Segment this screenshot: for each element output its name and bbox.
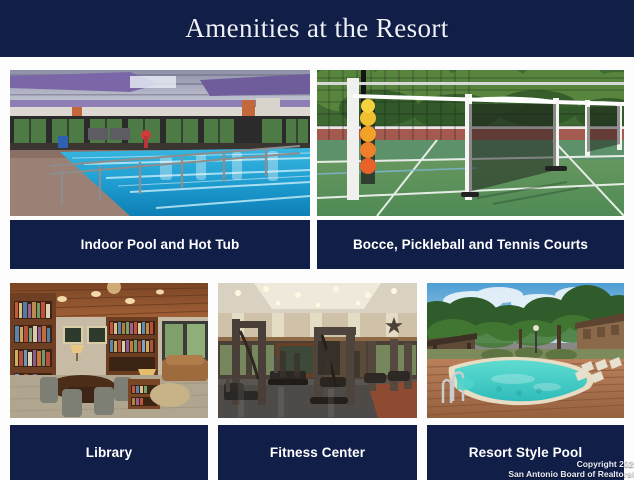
tile-caption-indoor-pool[interactable]: Indoor Pool and Hot Tub — [10, 220, 310, 269]
pickleball-tennis-court-photo — [317, 70, 624, 216]
caption-label: Bocce, Pickleball and Tennis Courts — [353, 237, 588, 252]
tile-image-courts[interactable] — [317, 70, 624, 216]
page-title: Amenities at the Resort — [185, 15, 448, 42]
tile-image-resort-pool[interactable] — [427, 283, 624, 418]
amenities-gallery-page: Amenities at the Resort — [0, 0, 634, 480]
tile-image-fitness[interactable] — [218, 283, 417, 418]
fitness-center-gym-photo — [218, 283, 417, 418]
tile-image-library[interactable] — [10, 283, 208, 418]
tile-caption-fitness[interactable]: Fitness Center — [218, 425, 417, 480]
caption-label: Indoor Pool and Hot Tub — [81, 237, 240, 252]
tile-caption-resort-pool[interactable]: Resort Style Pool — [427, 425, 624, 480]
tile-caption-library[interactable]: Library — [10, 425, 208, 480]
tile-caption-courts[interactable]: Bocce, Pickleball and Tennis Courts — [317, 220, 624, 269]
tile-image-indoor-pool[interactable] — [10, 70, 310, 216]
indoor-lap-pool-photo — [10, 70, 310, 216]
caption-label: Resort Style Pool — [469, 445, 582, 460]
library-lounge-photo — [10, 283, 208, 418]
caption-label: Library — [86, 445, 132, 460]
caption-label: Fitness Center — [270, 445, 365, 460]
outdoor-resort-pool-photo — [427, 283, 624, 418]
page-header: Amenities at the Resort — [0, 0, 634, 57]
